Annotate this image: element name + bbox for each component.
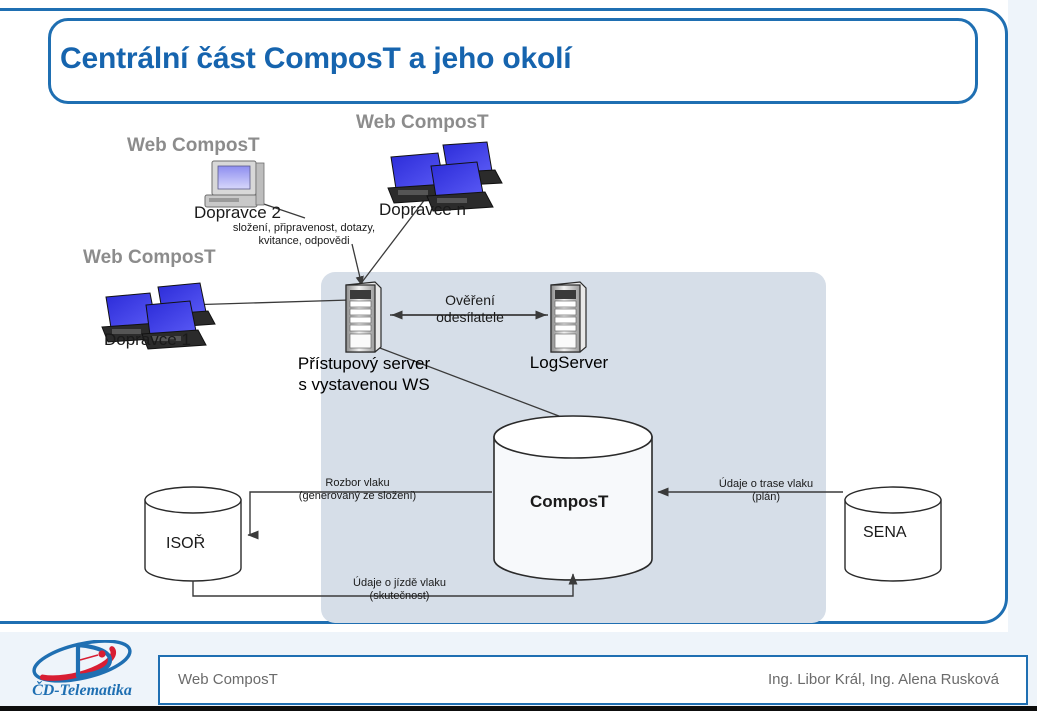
web-compost-label-dopravcen: Web ComposT xyxy=(356,112,489,134)
flow-label-trase-line2: (plán) xyxy=(692,491,840,504)
server-link-line1: Ověření xyxy=(400,292,540,309)
database-label-compost: ComposT xyxy=(530,492,608,512)
isor-database-cylinder xyxy=(145,487,241,581)
access-server-label-line1: Přístupový server xyxy=(258,353,470,374)
log-server-label: LogServer xyxy=(490,353,648,373)
slide: Centrální část ComposT a jeho okolí xyxy=(0,0,1037,711)
database-label-sena: SENA xyxy=(863,524,907,542)
footer-bottom-rule xyxy=(0,706,1037,711)
client-label-dopravce-1: Dopravce 1 xyxy=(104,330,191,350)
database-label-isor: ISOŘ xyxy=(166,535,205,553)
web-compost-label-dopravce2: Web ComposT xyxy=(127,135,260,157)
diagram-canvas: Web ComposT Web ComposT Web ComposT Dopr… xyxy=(0,0,1037,632)
access-server-rack-icon xyxy=(346,282,381,352)
flow-label-trase-line1: Údaje o trase vlaku xyxy=(692,478,840,491)
desktop-computer-icon xyxy=(205,161,264,207)
web-compost-label-dopravce1: Web ComposT xyxy=(83,247,216,269)
flow-label-jizde-line2: (skutečnost) xyxy=(312,590,487,603)
access-server-label: Přístupový server s vystavenou WS xyxy=(258,353,470,395)
logo-mark-icon xyxy=(18,640,146,686)
logo-text: ČD-Telematika xyxy=(18,682,146,700)
client-flow-note: složení, připravenost, dotazy, kvitance,… xyxy=(208,222,400,248)
footer-right-text: Ing. Libor Král, Ing. Alena Rusková xyxy=(768,671,999,688)
access-server-label-line2: s vystavenou WS xyxy=(258,374,470,395)
cd-telematika-logo: ČD-Telematika xyxy=(18,640,146,704)
server-link-line2: odesílatele xyxy=(400,309,540,326)
client-label-dopravce-2: Dopravce 2 xyxy=(194,203,281,223)
flow-label-udaje-o-jizde: Údaje o jízdě vlaku (skutečnost) xyxy=(312,577,487,603)
flow-label-rozbor-line1: Rozbor vlaku xyxy=(265,477,450,490)
client-flow-note-line1: složení, připravenost, dotazy, xyxy=(208,222,400,235)
server-link-label: Ověření odesílatele xyxy=(400,292,540,326)
client-flow-note-line2: kvitance, odpovědi xyxy=(208,235,400,248)
log-server-rack-icon xyxy=(551,282,586,352)
flow-label-rozbor-vlaku: Rozbor vlaku (generovaný ze složení) xyxy=(265,477,450,503)
flow-label-udaje-o-trase: Údaje o trase vlaku (plán) xyxy=(692,478,840,504)
flow-label-jizde-line1: Údaje o jízdě vlaku xyxy=(312,577,487,590)
client-label-dopravce-n: Dopravce n xyxy=(379,200,466,220)
footer-left-text: Web ComposT xyxy=(178,671,278,688)
flow-label-rozbor-line2: (generovaný ze složení) xyxy=(265,490,450,503)
